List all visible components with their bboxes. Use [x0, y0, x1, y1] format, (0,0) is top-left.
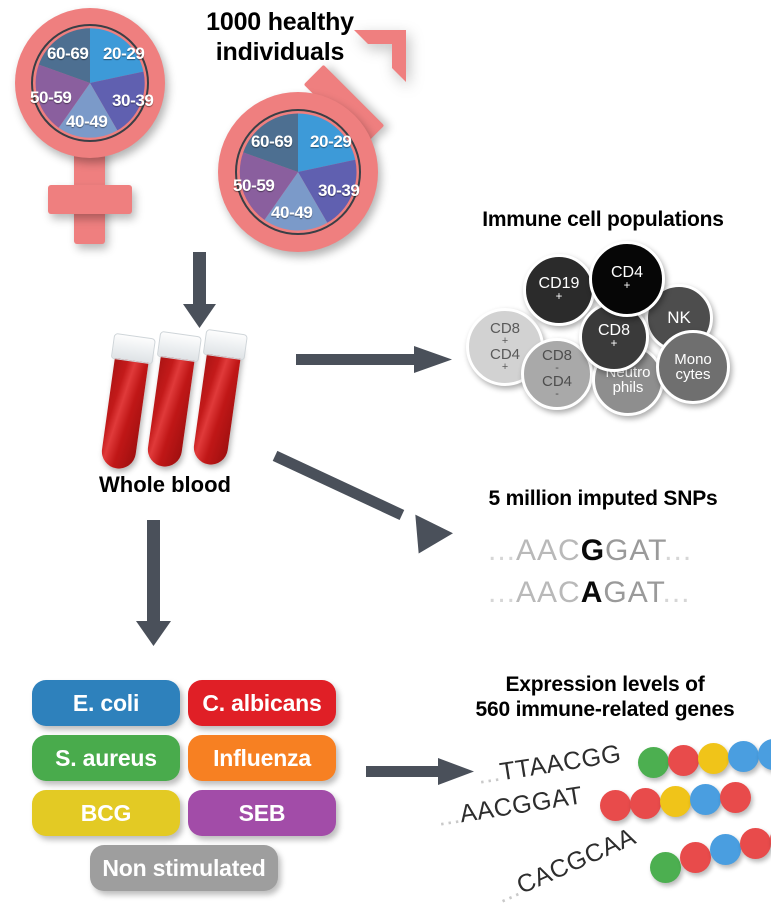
- expression-bead: [680, 842, 711, 873]
- expression-strand-sequence: ...CACGCAA: [492, 822, 640, 909]
- female-slice-label-50-59: 50-59: [30, 88, 71, 108]
- male-slice-label-20-29: 20-29: [310, 132, 351, 152]
- blood-tube: [192, 341, 243, 467]
- stimulus-c-albicans[interactable]: C. albicans: [188, 680, 336, 726]
- strand-sequence-text: CACGCAA: [513, 822, 641, 899]
- tube-cap: [203, 329, 248, 361]
- immune-cell-neutrophils-line2: phils: [605, 380, 650, 395]
- snp-bases-before: AAC: [516, 576, 581, 609]
- immune-cell-cd8n-cd4n-line2: CD4-: [542, 374, 572, 400]
- tube-cap: [157, 331, 202, 363]
- blood-tube: [100, 345, 151, 471]
- stimuli-panel: E. coli C. albicans S. aureus Influenza …: [32, 680, 342, 895]
- male-slice-label-50-59: 50-59: [233, 176, 274, 196]
- female-slice-label-60-69: 60-69: [47, 44, 88, 64]
- expression-bead: [740, 828, 771, 859]
- stimulus-non-stimulated[interactable]: Non stimulated: [90, 845, 278, 891]
- snp-sequence-row: ...AACGGAT...: [488, 534, 692, 568]
- blood-tube: [146, 343, 197, 469]
- expression-strands: ...TTAACGG ...AACGGAT ...CACGCAA: [460, 740, 771, 920]
- female-symbol-crossbar: [48, 185, 132, 214]
- stimulus-seb[interactable]: SEB: [188, 790, 336, 836]
- snps-title: 5 million imputed SNPs: [438, 487, 768, 512]
- snp-bases-after: GAT: [605, 534, 664, 567]
- expression-strand-sequence: ...TTAACGG: [476, 740, 624, 791]
- expression-bead: [698, 743, 729, 774]
- tube-cap: [111, 333, 156, 365]
- snp-sequence-block: ...AACGGAT... ...AACAGAT...: [470, 534, 760, 624]
- immune-populations-title: Immune cell populations: [438, 208, 768, 233]
- expression-bead: [668, 745, 699, 776]
- male-slice-label-60-69: 60-69: [251, 132, 292, 152]
- expression-bead: [650, 852, 681, 883]
- stimulus-s-aureus[interactable]: S. aureus: [32, 735, 180, 781]
- snp-bases-before: AAC: [516, 534, 581, 567]
- figure-canvas: 1000 healthy individuals: [0, 0, 771, 922]
- arrow-blood-to-immune: [296, 330, 456, 374]
- male-slice-label-30-39: 30-39: [318, 181, 359, 201]
- expression-title-line2: 560 immune-related genes: [440, 698, 770, 723]
- female-slice-label-20-29: 20-29: [103, 44, 144, 64]
- expression-bead: [660, 786, 691, 817]
- snp-suffix-dots: ...: [663, 576, 691, 609]
- female-slice-label-40-49: 40-49: [66, 112, 107, 132]
- immune-cell-cd8p-cd4p-line2: CD4+: [490, 347, 520, 373]
- whole-blood-label: Whole blood: [60, 472, 270, 498]
- expression-bead: [690, 784, 721, 815]
- immune-cell-cd4p: CD4+: [589, 241, 665, 317]
- snp-prefix-dots: ...: [488, 576, 516, 609]
- expression-title: Expression levels of 560 immune-related …: [440, 673, 770, 723]
- expression-bead: [720, 782, 751, 813]
- female-slice-label-30-39: 30-39: [112, 91, 153, 111]
- strand-sequence-text: AACGGAT: [458, 781, 585, 828]
- snp-prefix-dots: ...: [488, 534, 516, 567]
- expression-title-line1: Expression levels of: [440, 673, 770, 698]
- male-symbol-arrow-head: [348, 26, 410, 88]
- snp-suffix-dots: ...: [664, 534, 692, 567]
- immune-cell-monocytes: Mono cytes: [656, 330, 730, 404]
- immune-cell-monocytes-line2: cytes: [674, 367, 712, 382]
- expression-bead: [728, 741, 759, 772]
- arrow-blood-to-stimuli: [130, 520, 178, 648]
- arrow-cohort-to-blood: [180, 252, 220, 330]
- snp-sequence-row: ...AACAGAT...: [488, 576, 691, 610]
- immune-cell-cluster: CD8+ CD4+ CD19+ CD4+ CD8+ NK CD8- CD4-: [455, 240, 765, 420]
- stimulus-influenza[interactable]: Influenza: [188, 735, 336, 781]
- expression-bead: [638, 747, 669, 778]
- immune-cell-monocytes-line1: Mono: [674, 352, 712, 367]
- snp-bases-after: GAT: [603, 576, 662, 609]
- immune-cell-cd8p-cd4p-line1: CD8+: [490, 321, 520, 347]
- expression-bead: [630, 788, 661, 819]
- expression-bead: [710, 834, 741, 865]
- arrow-blood-to-snps: [268, 452, 453, 557]
- whole-blood-tubes: [100, 335, 260, 475]
- stimulus-bcg[interactable]: BCG: [32, 790, 180, 836]
- immune-cell-cd8n-cd4n-line1: CD8-: [542, 348, 572, 374]
- snp-variant-base: A: [581, 576, 604, 609]
- strand-sequence-text: TTAACGG: [498, 740, 623, 787]
- snp-variant-base: G: [581, 534, 605, 567]
- stimulus-e-coli[interactable]: E. coli: [32, 680, 180, 726]
- expression-bead: [758, 739, 771, 770]
- male-slice-label-40-49: 40-49: [271, 203, 312, 223]
- expression-bead: [600, 790, 631, 821]
- immune-cell-cd19p: CD19+: [523, 254, 595, 326]
